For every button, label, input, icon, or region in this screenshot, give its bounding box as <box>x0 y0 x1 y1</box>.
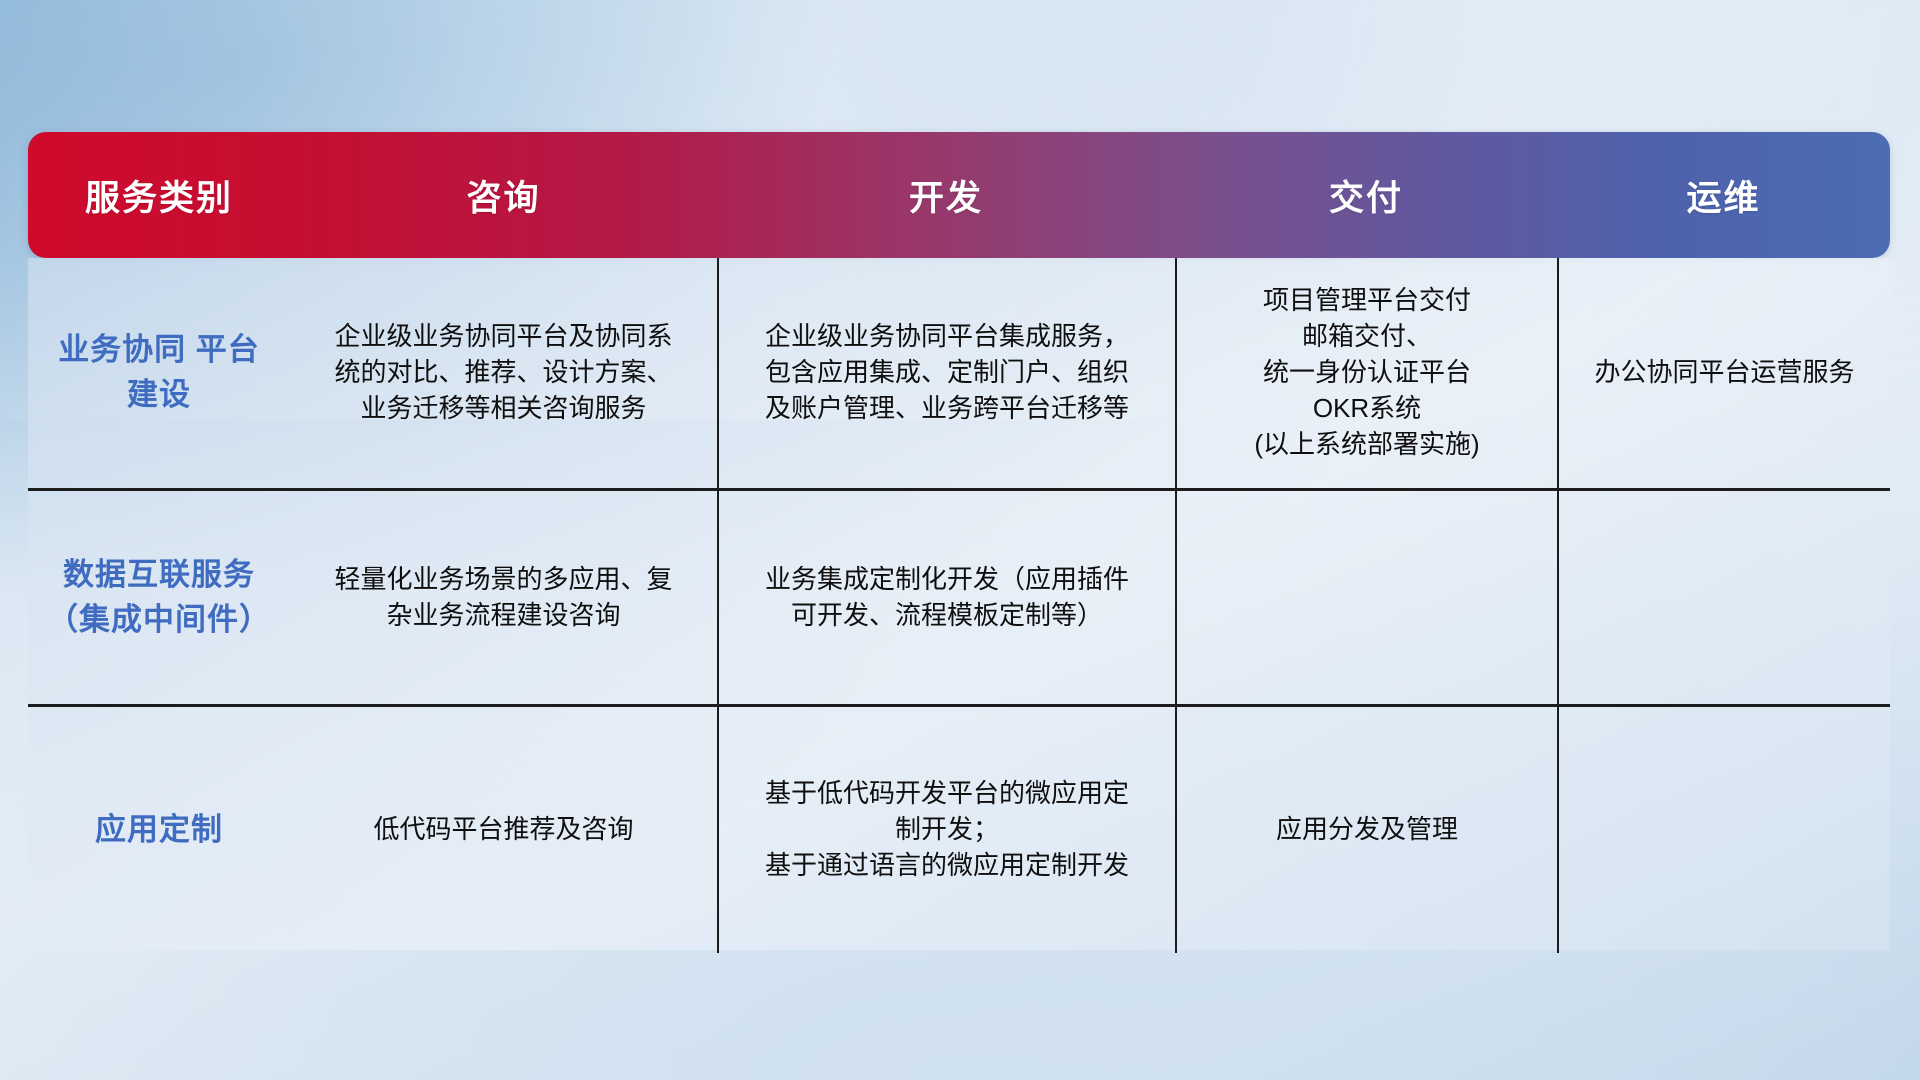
column-header-operations: 运维 <box>1557 170 1890 221</box>
column-header-delivery: 交付 <box>1175 170 1557 221</box>
cell-operations <box>1557 491 1890 704</box>
cell-text: 业务集成定制化开发（应用插件 可开发、流程模板定制等） <box>765 562 1129 634</box>
cell-text: 基于低代码开发平台的微应用定 制开发； 基于通过语言的微应用定制开发 <box>765 776 1129 884</box>
column-header-consulting: 咨询 <box>290 170 717 221</box>
cell-consulting: 企业级业务协同平台及协同系 统的对比、推荐、设计方案、 业务迁移等相关咨询服务 <box>290 258 717 488</box>
table-row: 应用定制 低代码平台推荐及咨询 基于低代码开发平台的微应用定 制开发； 基于通过… <box>28 704 1890 953</box>
table-header-row: 服务类别 咨询 开发 交付 运维 <box>28 132 1890 258</box>
cell-category: 应用定制 <box>28 707 290 953</box>
cell-category: 业务协同 平台建设 <box>28 258 290 488</box>
table-row: 数据互联服务 （集成中间件） 轻量化业务场景的多应用、复 杂业务流程建设咨询 业… <box>28 488 1890 704</box>
cell-text: 企业级业务协同平台及协同系 统的对比、推荐、设计方案、 业务迁移等相关咨询服务 <box>334 319 672 427</box>
category-label: 业务协同 平台建设 <box>46 328 272 418</box>
cell-delivery: 项目管理平台交付 邮箱交付、 统一身份认证平台 OKR系统 (以上系统部署实施) <box>1175 258 1557 488</box>
cell-text: 企业级业务协同平台集成服务， 包含应用集成、定制门户、组织 及账户管理、业务跨平… <box>765 319 1129 427</box>
cell-text: 轻量化业务场景的多应用、复 杂业务流程建设咨询 <box>334 562 672 634</box>
table-row: 业务协同 平台建设 企业级业务协同平台及协同系 统的对比、推荐、设计方案、 业务… <box>28 258 1890 488</box>
cell-development: 企业级业务协同平台集成服务， 包含应用集成、定制门户、组织 及账户管理、业务跨平… <box>717 258 1175 488</box>
cell-delivery: 应用分发及管理 <box>1175 707 1557 953</box>
cell-text: 项目管理平台交付 邮箱交付、 统一身份认证平台 OKR系统 (以上系统部署实施) <box>1254 283 1479 462</box>
cell-operations: 办公协同平台运营服务 <box>1557 258 1890 488</box>
category-label: 数据互联服务 （集成中间件） <box>46 553 272 643</box>
cell-text: 应用分发及管理 <box>1276 812 1458 848</box>
cell-text: 办公协同平台运营服务 <box>1594 355 1854 391</box>
cell-text: 低代码平台推荐及咨询 <box>373 812 633 848</box>
column-header-development: 开发 <box>717 170 1175 221</box>
cell-consulting: 轻量化业务场景的多应用、复 杂业务流程建设咨询 <box>290 491 717 704</box>
cell-development: 基于低代码开发平台的微应用定 制开发； 基于通过语言的微应用定制开发 <box>717 707 1175 953</box>
column-header-category: 服务类别 <box>28 170 290 221</box>
service-matrix-table: 服务类别 咨询 开发 交付 运维 业务协同 平台建设 企业级业务协同平台及协同系… <box>28 132 1890 950</box>
slide-canvas: 服务类别 咨询 开发 交付 运维 业务协同 平台建设 企业级业务协同平台及协同系… <box>0 0 1920 1080</box>
cell-delivery <box>1175 491 1557 704</box>
table-body: 业务协同 平台建设 企业级业务协同平台及协同系 统的对比、推荐、设计方案、 业务… <box>28 258 1890 950</box>
cell-category: 数据互联服务 （集成中间件） <box>28 491 290 704</box>
cell-operations <box>1557 707 1890 953</box>
cell-development: 业务集成定制化开发（应用插件 可开发、流程模板定制等） <box>717 491 1175 704</box>
cell-consulting: 低代码平台推荐及咨询 <box>290 707 717 953</box>
category-label: 应用定制 <box>95 808 223 853</box>
